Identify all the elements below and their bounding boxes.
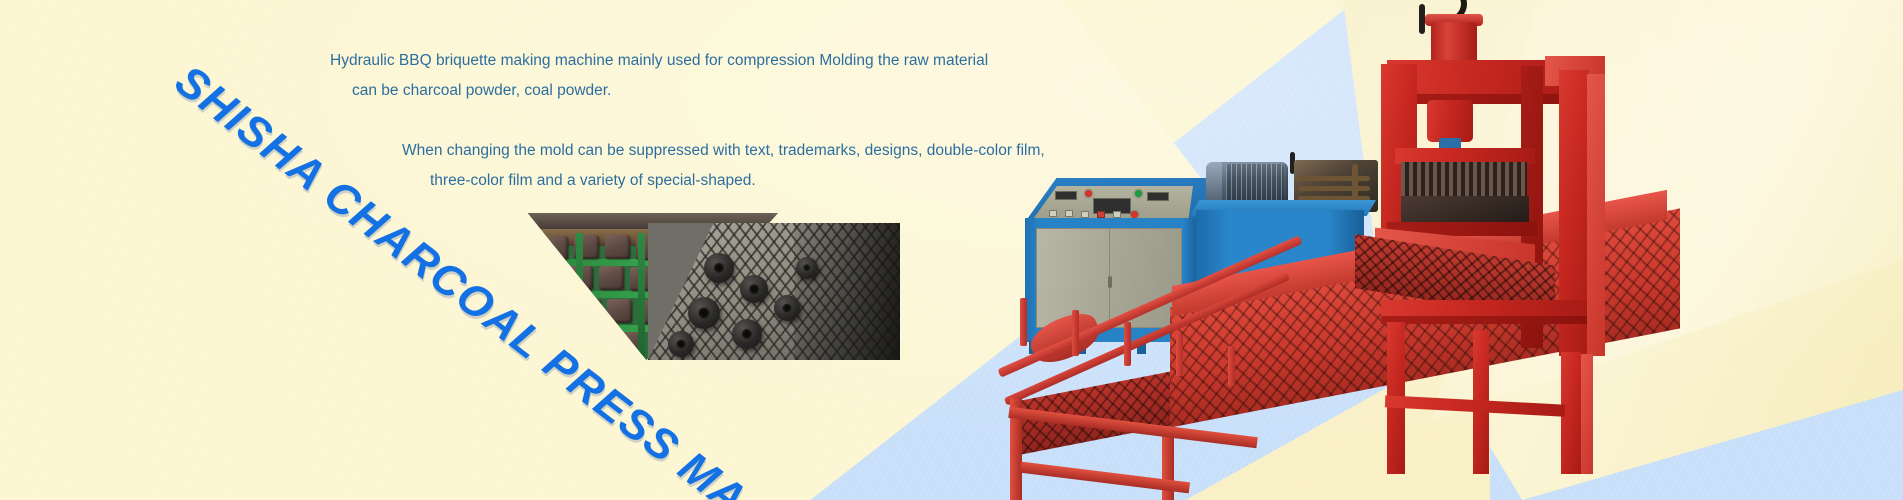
charcoal-cylinder: [740, 275, 768, 303]
motor-cooling-fins: [1226, 164, 1284, 204]
description-line-3: When changing the mold can be suppressed…: [402, 136, 990, 166]
electric-motor: [1206, 162, 1288, 206]
digital-display: [1055, 191, 1077, 200]
mould-punch-teeth: [1401, 162, 1527, 198]
press-base-beam-edge: [1381, 316, 1587, 324]
charcoal-cylinder: [732, 319, 762, 349]
charcoal-cylinder: [704, 253, 734, 283]
charcoal-cylinder: [774, 295, 800, 321]
digital-display: [1147, 192, 1169, 201]
control-switch[interactable]: [1049, 210, 1057, 217]
mould-die-plate: [1401, 196, 1529, 224]
press-crown-edge: [1387, 94, 1587, 104]
description-line-2: can be charcoal powder, coal powder.: [352, 76, 990, 106]
charcoal-cylinder: [796, 257, 818, 279]
indicator-lamp-green[interactable]: [1135, 190, 1142, 197]
description-line-1: Hydraulic BBQ briquette making machine m…: [330, 46, 990, 76]
description-line-4: three-color film and a variety of specia…: [430, 166, 990, 196]
emergency-stop-button[interactable]: [1131, 211, 1138, 218]
product-banner: SHISHA CHARCOAL PRESS MACHINE Hydraulic …: [0, 0, 1903, 500]
photo-cylinder-briquettes: [648, 223, 900, 360]
control-switch-red[interactable]: [1097, 211, 1105, 218]
press-column-right-face: [1587, 74, 1605, 356]
control-switch[interactable]: [1065, 210, 1073, 217]
press-leg-right-face: [1581, 354, 1593, 474]
rail-post: [1072, 310, 1079, 356]
rail-post: [1020, 298, 1027, 346]
hydraulic-press-frame: [1395, 0, 1725, 470]
mould-punch-block: [1401, 162, 1527, 198]
rail-post: [1176, 334, 1183, 376]
charcoal-cylinder: [688, 297, 720, 329]
cabinet-doors: [1036, 228, 1182, 328]
control-switch[interactable]: [1113, 211, 1121, 218]
charcoal-cylinder: [668, 331, 694, 357]
photo-collage: [520, 205, 900, 360]
cabinet-console-face: [1031, 186, 1193, 222]
rail-post: [1124, 322, 1131, 366]
description-block: Hydraulic BBQ briquette making machine m…: [330, 46, 990, 196]
indicator-lamp-red[interactable]: [1085, 190, 1092, 197]
ram-head: [1427, 100, 1473, 142]
rail-post: [1228, 346, 1235, 386]
cabinet-door-handle[interactable]: [1108, 276, 1112, 288]
control-switch[interactable]: [1081, 211, 1089, 218]
photo-shadow: [794, 223, 900, 360]
